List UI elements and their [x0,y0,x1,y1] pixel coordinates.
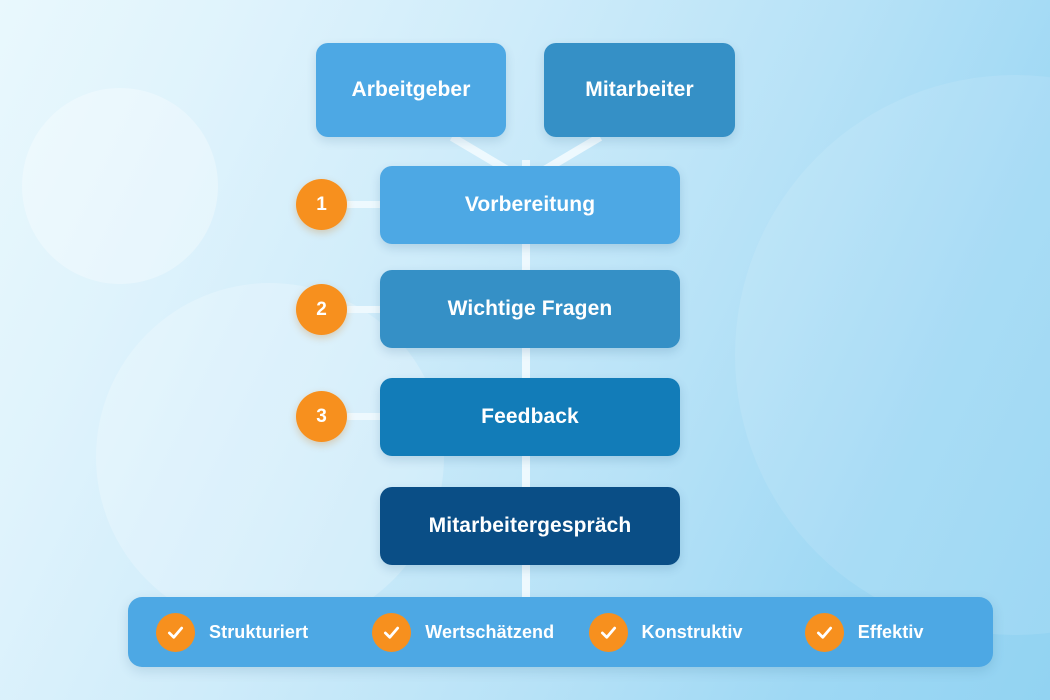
step-number-label: 3 [316,406,327,428]
step-number-label: 1 [316,194,327,216]
check-icon [156,613,195,652]
source-box-arbeitgeber[interactable]: Arbeitgeber [316,43,506,137]
step-number-badge-3[interactable]: 3 [296,391,347,442]
attribute-item-effektiv[interactable]: Effektiv [777,613,993,652]
attribute-label: Strukturiert [209,622,308,643]
check-icon [372,613,411,652]
step-box-vorbereitung[interactable]: Vorbereitung [380,166,680,244]
outcome-box-label: Mitarbeitergespräch [429,514,632,538]
step-box-feedback[interactable]: Feedback [380,378,680,456]
outcome-box-mitarbeitergespraech[interactable]: Mitarbeitergespräch [380,487,680,565]
source-box-label: Arbeitgeber [352,78,471,102]
background-circle-right [735,75,1050,635]
diagram-canvas: Arbeitgeber Mitarbeiter 1 Vorbereitung 2… [0,0,1050,700]
attribute-label: Effektiv [858,622,924,643]
background-circle-small [22,88,218,284]
attribute-item-konstruktiv[interactable]: Konstruktiv [561,613,777,652]
attribute-item-strukturiert[interactable]: Strukturiert [128,613,344,652]
badge-connector-stub-1 [347,201,381,208]
step-number-badge-2[interactable]: 2 [296,284,347,335]
step-box-label: Wichtige Fragen [448,297,613,321]
attribute-label: Konstruktiv [642,622,743,643]
step-number-badge-1[interactable]: 1 [296,179,347,230]
attribute-item-wertschaetzend[interactable]: Wertschätzend [344,613,560,652]
check-icon [805,613,844,652]
step-box-wichtige-fragen[interactable]: Wichtige Fragen [380,270,680,348]
badge-connector-stub-2 [347,306,381,313]
badge-connector-stub-3 [347,413,381,420]
attribute-label: Wertschätzend [425,622,554,643]
check-icon [589,613,628,652]
connector-lines [0,0,1050,700]
step-box-label: Feedback [481,405,579,429]
source-box-label: Mitarbeiter [585,78,693,102]
source-box-mitarbeiter[interactable]: Mitarbeiter [544,43,735,137]
attributes-bar: Strukturiert Wertschätzend Konstruktiv [128,597,993,667]
step-box-label: Vorbereitung [465,193,595,217]
step-number-label: 2 [316,299,327,321]
